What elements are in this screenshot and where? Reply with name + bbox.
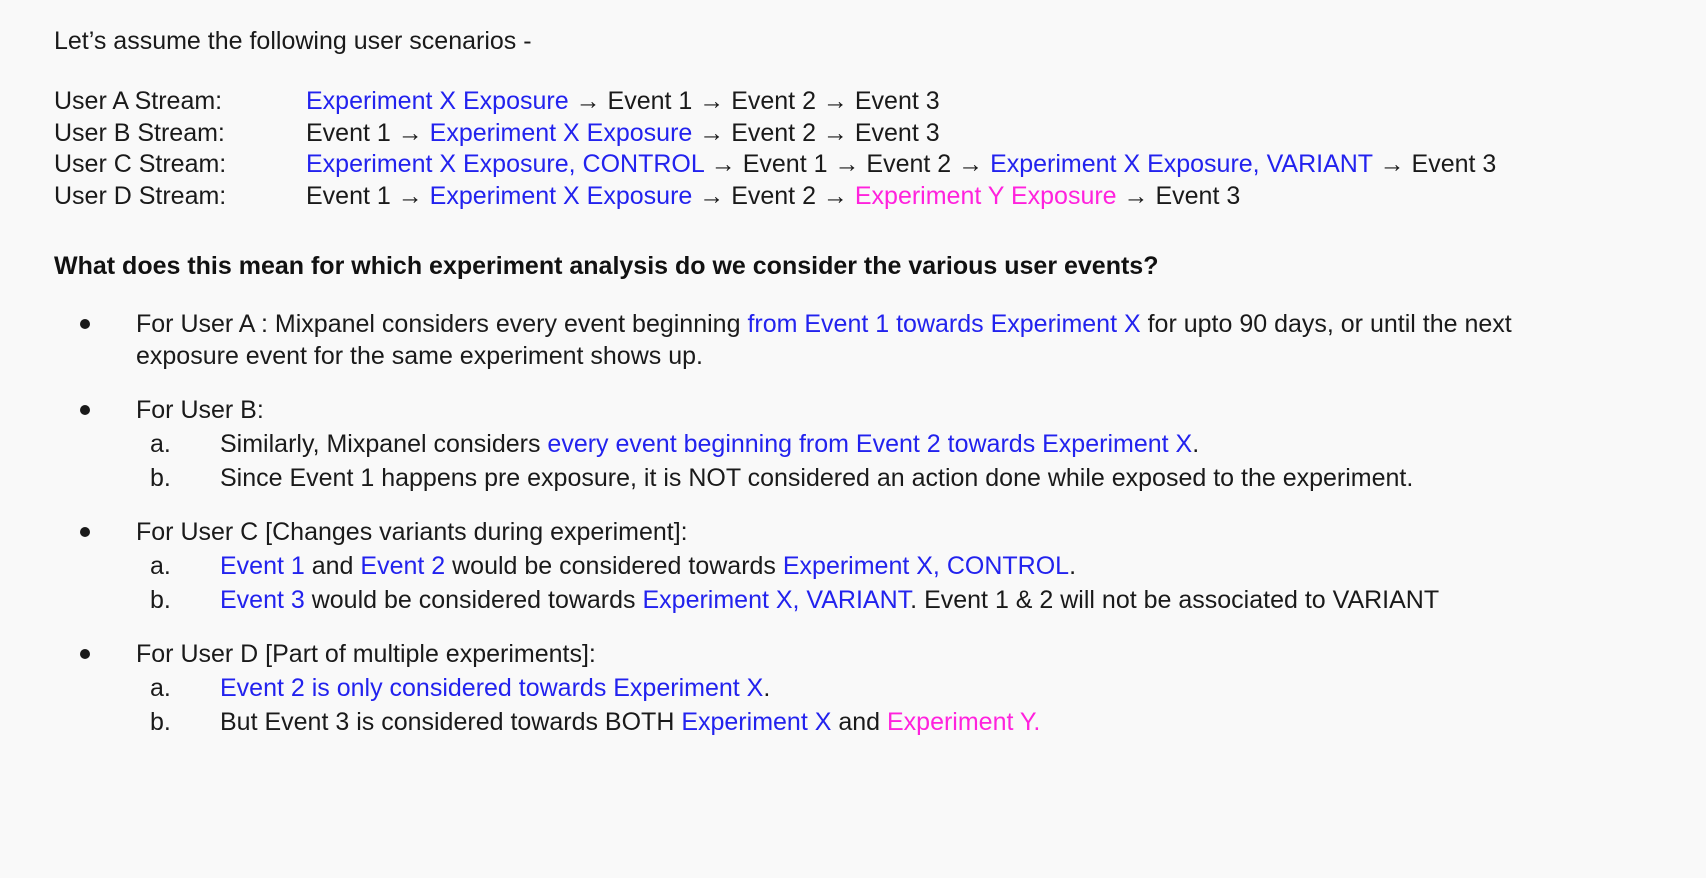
sub-list-text: But Event 3 is considered towards BOTH E…: [220, 708, 1040, 736]
text-span-black: → Event 2 →: [692, 182, 855, 210]
sub-list-item: b.Event 3 would be considered towards Ex…: [136, 584, 1676, 616]
text-span-blue: Event 3: [220, 586, 305, 614]
bullet-item: For User B:a.Similarly, Mixpanel conside…: [54, 394, 1676, 494]
text-span-black: Event 1 →: [306, 119, 430, 147]
bullet-dot-icon: [80, 319, 90, 329]
sub-list: a.Event 1 and Event 2 would be considere…: [136, 550, 1676, 616]
text-span-magenta: Experiment Y.: [887, 708, 1040, 736]
text-span-black: Similarly, Mixpanel considers: [220, 430, 547, 458]
intro-paragraph: Let’s assume the following user scenario…: [54, 24, 1676, 58]
sub-list-text: Event 2 is only considered towards Exper…: [220, 674, 770, 702]
document-page: Let’s assume the following user scenario…: [0, 0, 1706, 878]
text-span-blue: Experiment X, VARIANT: [642, 586, 910, 614]
user-stream-sequence: Event 1 → Experiment X Exposure → Event …: [306, 181, 1240, 213]
sub-list-text: Event 3 would be considered towards Expe…: [220, 586, 1439, 614]
user-stream-label: User B Stream:: [54, 118, 306, 150]
text-span-black: Since Event 1 happens pre exposure, it i…: [220, 464, 1413, 492]
user-stream-label: User C Stream:: [54, 149, 306, 181]
text-span-black: → Event 1 → Event 2 →: [704, 150, 990, 178]
text-span-black: → Event 3: [1373, 150, 1497, 178]
text-span-blue: Experiment X Exposure, VARIANT: [990, 150, 1373, 178]
text-span-blue: Experiment X Exposure, CONTROL: [306, 150, 704, 178]
text-span-black: would be considered towards: [305, 586, 643, 614]
text-span-black: For User D [Part of multiple experiments…: [136, 640, 596, 668]
text-span-magenta: Experiment Y Exposure: [855, 182, 1117, 210]
user-stream-row: User C Stream:Experiment X Exposure, CON…: [54, 149, 1676, 181]
bullet-dot-icon: [80, 527, 90, 537]
sub-list: a.Similarly, Mixpanel considers every ev…: [136, 428, 1676, 494]
bullet-dot-icon: [80, 405, 90, 415]
text-span-blue: Experiment X: [681, 708, 831, 736]
sub-list-marker: a.: [150, 550, 171, 582]
sub-list-text: Since Event 1 happens pre exposure, it i…: [220, 464, 1413, 492]
bullet-text: For User C [Changes variants during expe…: [136, 516, 1556, 548]
user-stream-label: User D Stream:: [54, 181, 306, 213]
bullet-dot-icon: [80, 649, 90, 659]
text-span-black: .: [1069, 552, 1076, 580]
text-span-black: → Event 2 → Event 3: [692, 119, 939, 147]
user-stream-row: User D Stream:Event 1 → Experiment X Exp…: [54, 181, 1676, 213]
text-span-black: → Event 3: [1117, 182, 1241, 210]
text-span-black: .: [1192, 430, 1199, 458]
sub-list-marker: b.: [150, 584, 171, 616]
bullet-item: For User C [Changes variants during expe…: [54, 516, 1676, 616]
user-stream-row: User A Stream:Experiment X Exposure → Ev…: [54, 86, 1676, 118]
sub-list-text: Similarly, Mixpanel considers every even…: [220, 430, 1199, 458]
sub-list-marker: b.: [150, 706, 171, 738]
sub-list-marker: a.: [150, 672, 171, 704]
text-span-blue: Experiment X Exposure: [306, 87, 569, 115]
sub-list-item: a.Similarly, Mixpanel considers every ev…: [136, 428, 1676, 460]
text-span-blue: Event 2 is only considered towards Exper…: [220, 674, 763, 702]
sub-list-marker: a.: [150, 428, 171, 460]
bullet-text: For User D [Part of multiple experiments…: [136, 638, 1556, 670]
sub-list: a.Event 2 is only considered towards Exp…: [136, 672, 1676, 738]
sub-list-text: Event 1 and Event 2 would be considered …: [220, 552, 1076, 580]
bullet-item: For User D [Part of multiple experiments…: [54, 638, 1676, 738]
user-stream-sequence: Event 1 → Experiment X Exposure → Event …: [306, 118, 940, 150]
sub-list-item: a.Event 1 and Event 2 would be considere…: [136, 550, 1676, 582]
question-heading: What does this mean for which experiment…: [54, 250, 1676, 282]
user-stream-row: User B Stream:Event 1 → Experiment X Exp…: [54, 118, 1676, 150]
bullet-text: For User A : Mixpanel considers every ev…: [136, 308, 1556, 372]
text-span-blue: Experiment X Exposure: [430, 182, 693, 210]
sub-list-item: b.Since Event 1 happens pre exposure, it…: [136, 462, 1676, 494]
bullet-text: For User B:: [136, 394, 1556, 426]
text-span-black: and: [831, 708, 887, 736]
sub-list-item: b.But Event 3 is considered towards BOTH…: [136, 706, 1676, 738]
text-span-blue: from Event 1 towards Experiment X: [747, 310, 1140, 338]
text-span-blue: Experiment X, CONTROL: [783, 552, 1069, 580]
text-span-black: →: [569, 87, 608, 115]
user-stream-sequence: Experiment X Exposure → Event 1 → Event …: [306, 86, 940, 118]
user-stream-sequence: Experiment X Exposure, CONTROL → Event 1…: [306, 149, 1496, 181]
text-span-black: For User C [Changes variants during expe…: [136, 518, 688, 546]
text-span-black: But Event 3 is considered towards BOTH: [220, 708, 681, 736]
text-span-blue: Event 2: [360, 552, 445, 580]
analysis-bullet-list: For User A : Mixpanel considers every ev…: [54, 308, 1676, 738]
text-span-black: For User B:: [136, 396, 264, 424]
text-span-black: For User A : Mixpanel considers every ev…: [136, 310, 747, 338]
text-span-black: Event 1 → Event 2 → Event 3: [608, 87, 940, 115]
text-span-black: and: [305, 552, 361, 580]
text-span-blue: Event 1: [220, 552, 305, 580]
text-span-blue: Experiment X Exposure: [430, 119, 693, 147]
user-stream-list: User A Stream:Experiment X Exposure → Ev…: [54, 86, 1676, 212]
text-span-black: .: [763, 674, 770, 702]
text-span-blue: every event beginning from Event 2 towar…: [547, 430, 1192, 458]
text-span-black: would be considered towards: [445, 552, 783, 580]
sub-list-item: a.Event 2 is only considered towards Exp…: [136, 672, 1676, 704]
text-span-black: Event 1 →: [306, 182, 430, 210]
bullet-item: For User A : Mixpanel considers every ev…: [54, 308, 1676, 372]
sub-list-marker: b.: [150, 462, 171, 494]
text-span-black: . Event 1 & 2 will not be associated to …: [910, 586, 1439, 614]
user-stream-label: User A Stream:: [54, 86, 306, 118]
